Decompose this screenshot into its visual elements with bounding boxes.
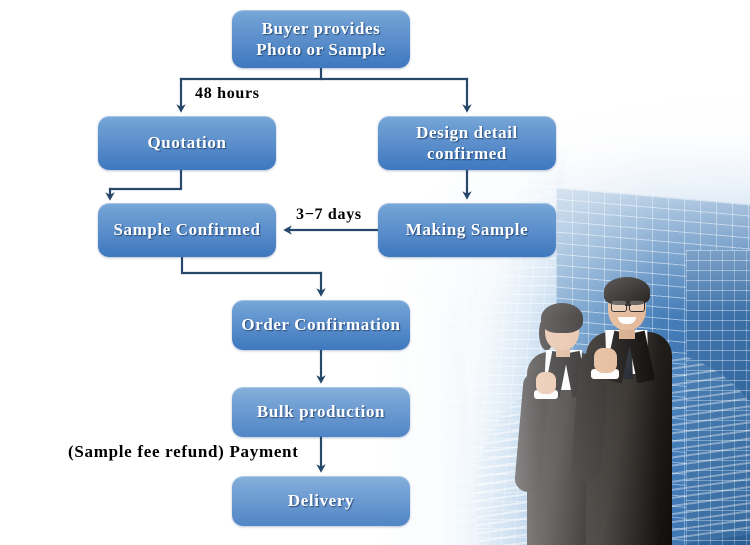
- node-sample-confirmed[interactable]: Sample Confirmed: [98, 203, 276, 257]
- edge-label-sample-fee-refund-payment: (Sample fee refund) Payment: [68, 442, 299, 462]
- node-quotation[interactable]: Quotation: [98, 116, 276, 170]
- node-making-sample[interactable]: Making Sample: [378, 203, 556, 257]
- edge-label-3-7-days: 3−7 days: [296, 206, 362, 224]
- node-design-detail-confirmed[interactable]: Design detail confirmed: [378, 116, 556, 170]
- flowchart-nodes: Buyer provides Photo or Sample Quotation…: [0, 0, 750, 545]
- node-order-confirmation[interactable]: Order Confirmation: [232, 300, 410, 350]
- edge-label-48-hours: 48 hours: [195, 85, 260, 103]
- node-bulk-production[interactable]: Bulk production: [232, 387, 410, 437]
- flowchart-canvas: Buyer provides Photo or Sample Quotation…: [0, 0, 750, 545]
- node-delivery[interactable]: Delivery: [232, 476, 410, 526]
- node-buyer-provides[interactable]: Buyer provides Photo or Sample: [232, 10, 410, 68]
